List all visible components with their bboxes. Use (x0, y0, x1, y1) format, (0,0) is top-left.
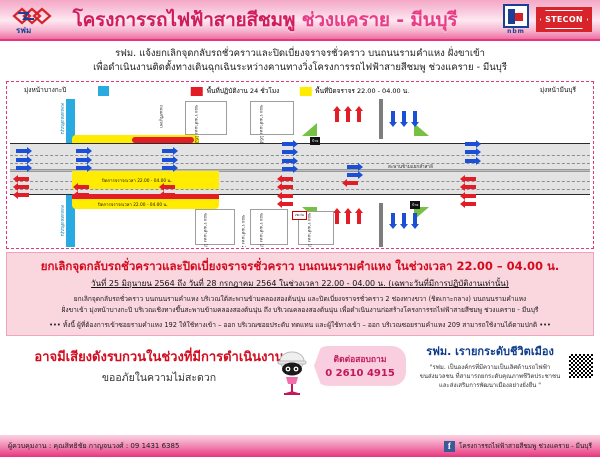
notice-date-range: วันที่ 25 มิถุนายน 2564 ถึง วันที่ 28 กร… (17, 277, 583, 290)
closure-label-bottom: ปิดการจราจรเวลา 22.00 - 04.00 น. (98, 201, 168, 208)
facebook-link[interactable]: f โครงการรถไฟฟ้าสายสีชมพู ช่วงแคราย - มี… (444, 441, 592, 452)
stecon-logo-icon: STECON (536, 7, 592, 32)
contact-callout[interactable]: ติดต่อสอบถาม 0 2610 4915 (314, 346, 406, 386)
canal-label-bottom: คลองสองต้นนุ่น (58, 205, 65, 236)
work-band-bottom (72, 194, 219, 199)
apology-line-2: ขออภัยในความไม่สะดวก (6, 369, 306, 386)
arrow-v-dn-1 (391, 111, 395, 122)
street-label-5: ซอย รามคำแหง 194 (306, 213, 313, 247)
mrta-logo: รฟม (0, 5, 62, 35)
arrow-blue-1 (16, 149, 27, 153)
subtitle-line-2: เพื่อดำเนินงานติดตั้งทางเดินฉุกเฉินระหว่… (30, 61, 570, 75)
overhead-sign-2: ป้าย (410, 201, 420, 209)
lane-divider-2 (10, 163, 590, 164)
contact-label: ติดต่อสอบถาม (334, 352, 387, 366)
arrow-blue-13 (282, 167, 293, 171)
street-label-1: ซอย รามคำแหง 162 (193, 105, 200, 143)
arrow-v-dn-3 (413, 111, 417, 122)
contact-phone-number[interactable]: 0 2610 4915 (325, 368, 395, 379)
canal-label-top: คลองสองต้นนุ่น (58, 103, 65, 134)
mrta-logo-icon: รฟม (4, 5, 58, 35)
cross-street-top (379, 99, 383, 139)
traffic-map-container: มุ่งหน้าบางกะปิ พื้นที่ปฏิบัติงาน 24 ชั่… (6, 81, 594, 249)
arrow-blue-5 (76, 158, 87, 162)
arrow-blue-17 (347, 165, 358, 169)
arrow-red-2 (18, 185, 29, 189)
page-footer: ผู้ควบคุมงาน : คุณสิทธิชัย กาญจนวงศ์ : 0… (0, 435, 600, 457)
title-segment-1: โครงการรถไฟฟ้าสายสีชมพู (73, 9, 296, 31)
road-diagram: คลองสองต้นนุ่น คลองสองต้นนุ่น ปิดการจราจ… (10, 99, 590, 247)
street-label-3: ซอย รามคำแหง 192 (202, 213, 209, 247)
arrow-red-8 (282, 177, 293, 181)
arrow-red-7 (164, 193, 175, 197)
bottom-section: อาจมีเสียงดังรบกวนในช่วงที่มีการดำเนินงา… (6, 338, 594, 394)
block-4 (250, 209, 288, 245)
arrow-red-13 (465, 185, 476, 189)
arrow-red-9 (282, 185, 293, 189)
stecon-logo-text: STECON (545, 15, 583, 24)
subtitle-line-1: รฟม. แจ้งยกเลิกจุดกลับรถชั่วคราวและปิดเบ… (30, 47, 570, 61)
shop-marker: เซเว่น (292, 211, 307, 220)
arrow-red-3 (18, 193, 29, 197)
legend-swatch-red (191, 87, 203, 96)
slogan-title: รฟม. เรายกระดับชีวิตเมือง (416, 342, 564, 360)
mascot-hardhat-icon (272, 348, 312, 396)
apology-block: อาจมีเสียงดังรบกวนในช่วงที่มีการดำเนินงา… (6, 346, 306, 386)
arrow-red-15 (465, 202, 476, 206)
notice-detour-info: ••• ทั้งนี้ ผู้ที่ต้องการเข้าซอยรามคำแหง… (17, 319, 583, 330)
arrow-blue-16 (465, 159, 476, 163)
block-1 (185, 101, 227, 135)
arrow-red-11 (282, 202, 293, 206)
overhead-sign-1: ป้าย (310, 137, 320, 145)
slogan-block: รฟม. เรายกระดับชีวิตเมือง "รฟม. เป็นองค์… (406, 342, 564, 390)
arrow-v-dn-5 (402, 213, 406, 224)
legend-item-work-area: พื้นที่ปฏิบัติงาน 24 ชั่วโมง (191, 86, 280, 96)
legend-label-red: พื้นที่ปฏิบัติงาน 24 ชั่วโมง (207, 86, 280, 96)
slogan-body-line-2: ขนส่งมวลชน ที่สามารถยกระดับคุณภาพชีวิตปร… (416, 372, 564, 381)
arrow-blue-12 (282, 159, 293, 163)
lane-divider-1 (10, 155, 590, 156)
arrow-blue-7 (162, 149, 173, 153)
arrow-red-12 (465, 177, 476, 181)
arrow-red-16 (347, 181, 358, 185)
arrow-blue-11 (282, 150, 293, 154)
partner-logos: nbm STECON (468, 4, 600, 35)
arrow-blue-2 (16, 158, 27, 162)
arrow-red-4 (78, 185, 89, 189)
island-triangle-1 (302, 123, 317, 136)
arrow-red-1 (18, 177, 29, 181)
arrow-blue-15 (465, 150, 476, 154)
arrow-v-up-2 (346, 111, 350, 122)
lane-divider-4 (10, 189, 590, 190)
arrow-red-6 (164, 185, 175, 189)
facebook-page-name[interactable]: โครงการรถไฟฟ้าสายสีชมพู ช่วงแคราย - มีนบ… (459, 441, 592, 451)
arrow-v-up-3 (357, 111, 361, 122)
arrow-blue-4 (76, 149, 87, 153)
block-2 (250, 101, 294, 135)
notice-heading: ยกเลิกจุดกลับรถชั่วคราวและปิดเบี่ยงจราจร… (17, 259, 583, 274)
map-legend: มุ่งหน้าบางกะปิ พื้นที่ปฏิบัติงาน 24 ชั่… (10, 84, 590, 99)
street-label-2: ซอย รามคำแหง 164 (258, 105, 265, 143)
arrow-blue-8 (162, 158, 173, 162)
legend-swatch-yellow (299, 87, 311, 96)
arrow-v-up-6 (357, 213, 361, 224)
arrow-blue-6 (76, 166, 87, 170)
legend-item-closure-area: พื้นที่ปิดจราจร 22.00 - 04.00 น. (299, 86, 409, 96)
arrow-v-dn-2 (402, 111, 406, 122)
arrow-v-up-5 (346, 213, 350, 224)
arrow-v-up-4 (335, 213, 339, 224)
notice-panel: ยกเลิกจุดกลับรถชั่วคราวและปิดเบี่ยงจราจร… (6, 252, 594, 336)
street-label-6: ถนนศรีบูรพา (158, 105, 165, 128)
arrow-red-14 (465, 194, 476, 198)
nbm-logo-icon: nbm (503, 4, 529, 35)
arrow-blue-10 (282, 142, 293, 146)
arrow-blue-14 (465, 142, 476, 146)
arrow-v-up-1 (335, 111, 339, 122)
qr-code-icon[interactable] (568, 353, 594, 379)
arrow-blue-3 (16, 166, 27, 170)
nbm-logo-text: nbm (503, 28, 529, 35)
title-segment-2: ช่วงแคราย - มีนบุรี (302, 9, 458, 31)
direction-label-left: มุ่งหน้าบางกะปิ (24, 85, 66, 95)
announcement-subtitle: รฟม. แจ้งยกเลิกจุดกลับรถชั่วคราวและปิดเบ… (0, 41, 600, 80)
arrow-v-dn-6 (413, 213, 417, 224)
notice-body-line-1: ยกเลิกจุดกลับรถชั่วคราว บนถนนรามคำแหง บร… (17, 294, 583, 304)
facebook-icon[interactable]: f (444, 441, 455, 452)
canal-swatch (98, 86, 109, 96)
page-header: รฟม โครงการรถไฟฟ้าสายสีชมพู ช่วงแคราย - … (0, 0, 600, 41)
arrow-v-dn-4 (391, 213, 395, 224)
slogan-body-line-3: และส่งเสริมการพัฒนาเมืองอย่างยั่งยืน " (416, 381, 564, 390)
arrow-blue-18 (347, 173, 358, 177)
block-3 (195, 209, 235, 245)
bridge-label: สะพานข้ามแยกลำสาลี (388, 164, 433, 171)
legend-label-yellow: พื้นที่ปิดจราจร 22.00 - 04.00 น. (315, 86, 409, 96)
arrow-red-10 (282, 194, 293, 198)
notice-body-line-2: ฝั่งขาเข้า มุ่งหน้าบางกะปิ บริเวณเชิงทาง… (17, 305, 583, 315)
cross-street-bottom (379, 203, 383, 247)
street-label-4: ซอย รามคำแหง 190 (258, 213, 265, 247)
arrow-blue-9 (162, 166, 173, 170)
street-label-7: ซอย รามคำแหง 209 (240, 215, 247, 247)
direction-label-right: มุ่งหน้ามีนบุรี (540, 85, 576, 95)
supervisor-contact: ผู้ควบคุมงาน : คุณสิทธิชัย กาญจนวงศ์ : 0… (8, 441, 179, 452)
arrow-red-5 (78, 193, 89, 197)
apology-line-1: อาจมีเสียงดังรบกวนในช่วงที่มีการดำเนินงา… (6, 346, 306, 367)
page-title: โครงการรถไฟฟ้าสายสีชมพู ช่วงแคราย - มีนบ… (62, 5, 468, 35)
svg-text:รฟม: รฟม (16, 26, 31, 35)
slogan-body-line-1: "รฟม. เป็นองค์กรที่มีความเป็นเลิศด้านรถไ… (416, 363, 564, 372)
